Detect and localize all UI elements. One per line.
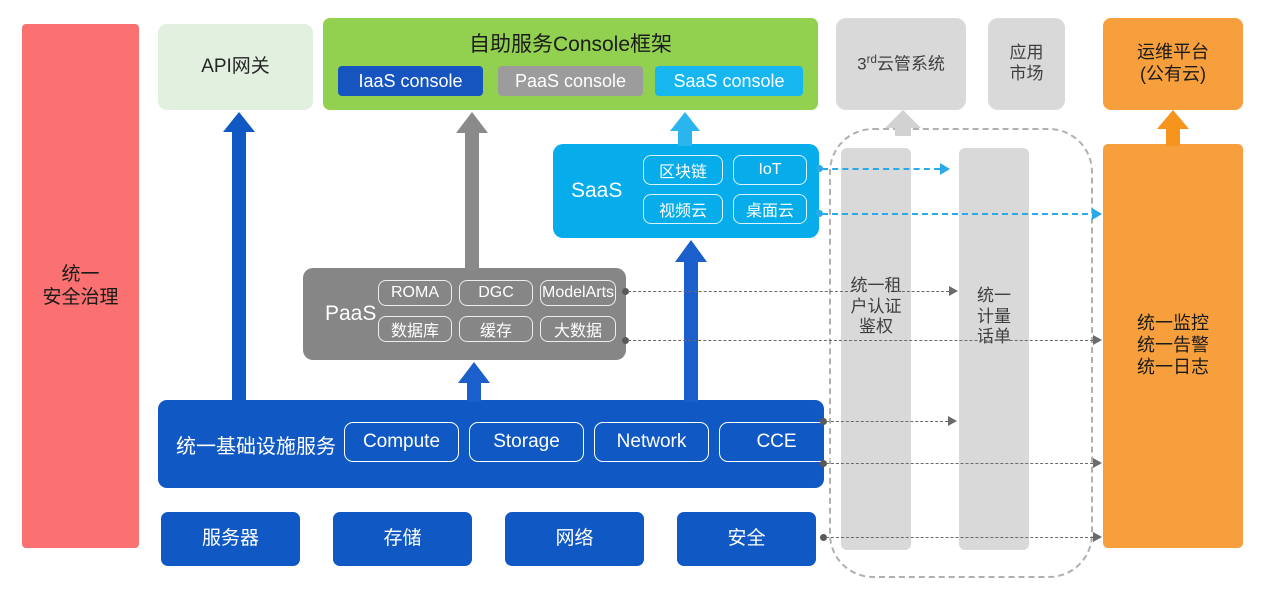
saas-item-video-cloud[interactable]: 视频云: [643, 194, 723, 224]
infra-item-cce[interactable]: CCE: [719, 422, 834, 462]
saas-item-iot[interactable]: IoT: [733, 155, 807, 185]
infra-item-compute[interactable]: Compute: [344, 422, 459, 462]
arrow-infra-to-paas: [457, 362, 491, 402]
dashed-saas-to-ops: [822, 213, 1098, 215]
self-service-console-framework: 自助服务Console框架 IaaS console PaaS console …: [323, 18, 818, 110]
third-party-label: 3rd云管系统: [857, 53, 945, 75]
dashed-tenant-auth-to-metering: [897, 291, 949, 292]
ops-platform-box: 运维平台 (公有云): [1103, 18, 1243, 110]
arrow-infra-to-api-gateway: [222, 112, 256, 404]
arrow-paas-to-console: [455, 112, 489, 270]
arrowhead-saas-to-metering: [940, 163, 950, 175]
unified-tenant-auth-column: 统一租 户认证 鉴权: [841, 148, 911, 550]
paas-item-cache[interactable]: 缓存: [459, 316, 533, 342]
saas-item-desktop-cloud[interactable]: 桌面云: [733, 194, 807, 224]
arrowhead-infra-to-metering: [948, 416, 957, 426]
unified-metering-column: 统一 计量 话单: [959, 148, 1029, 550]
chip-saas-console[interactable]: SaaS console: [655, 66, 803, 96]
infra-item-network[interactable]: Network: [594, 422, 709, 462]
dashed-infra-to-ops: [826, 463, 1093, 464]
arrowhead-tenant-auth-to-metering: [949, 286, 958, 296]
hardware-item-security[interactable]: 安全: [677, 512, 816, 566]
api-gateway-box: API网关: [158, 24, 313, 110]
paas-item-dgc[interactable]: DGC: [459, 280, 533, 306]
chip-iaas-console[interactable]: IaaS console: [338, 66, 483, 96]
arrow-saas-to-console: [669, 112, 701, 146]
infra-item-storage[interactable]: Storage: [469, 422, 584, 462]
unified-security-governance-panel: 统一 安全治理: [22, 24, 139, 548]
architecture-diagram: 统一 安全治理 API网关 自助服务Console框架 IaaS console…: [0, 0, 1265, 605]
unified-infrastructure-block: 统一基础设施服务 Compute Storage Network CCE: [158, 400, 824, 488]
dashed-paas-to-tenant-auth: [628, 291, 853, 292]
console-framework-title: 自助服务Console框架: [323, 28, 818, 58]
arrow-ops-column-to-ops-platform: [1156, 110, 1190, 146]
paas-item-database[interactable]: 数据库: [378, 316, 452, 342]
chip-paas-console[interactable]: PaaS console: [498, 66, 643, 96]
paas-item-roma[interactable]: ROMA: [378, 280, 452, 306]
arrow-middle-to-third-party: [884, 110, 922, 136]
hardware-item-network[interactable]: 网络: [505, 512, 644, 566]
infra-label: 统一基础设施服务: [176, 400, 336, 488]
dashed-hardware-to-ops: [826, 537, 1093, 538]
paas-item-modelarts[interactable]: ModelArts: [540, 280, 616, 306]
hardware-item-storage[interactable]: 存储: [333, 512, 472, 566]
paas-item-bigdata[interactable]: 大数据: [540, 316, 616, 342]
arrowhead-hardware-to-ops: [1093, 532, 1102, 542]
arrowhead-paas-to-ops: [1093, 335, 1102, 345]
saas-label: SaaS: [571, 144, 622, 238]
arrow-infra-to-saas: [674, 240, 708, 402]
hardware-item-server[interactable]: 服务器: [161, 512, 300, 566]
third-party-cloud-mgmt-box: 3rd云管系统: [836, 18, 966, 110]
dashed-paas-to-ops: [628, 340, 1093, 341]
dashed-infra-to-metering: [826, 421, 948, 422]
arrowhead-infra-to-ops: [1093, 458, 1102, 468]
dashed-saas-to-metering: [822, 168, 940, 170]
ops-monitoring-column: 统一监控 统一告警 统一日志: [1103, 144, 1243, 548]
app-market-box: 应用 市场: [988, 18, 1065, 110]
saas-item-blockchain[interactable]: 区块链: [643, 155, 723, 185]
saas-block: SaaS 区块链 IoT 视频云 桌面云: [553, 144, 819, 238]
arrowhead-saas-to-ops: [1092, 208, 1102, 220]
paas-block: PaaS ROMA DGC ModelArts 数据库 缓存 大数据: [303, 268, 626, 360]
paas-label: PaaS: [325, 268, 376, 360]
